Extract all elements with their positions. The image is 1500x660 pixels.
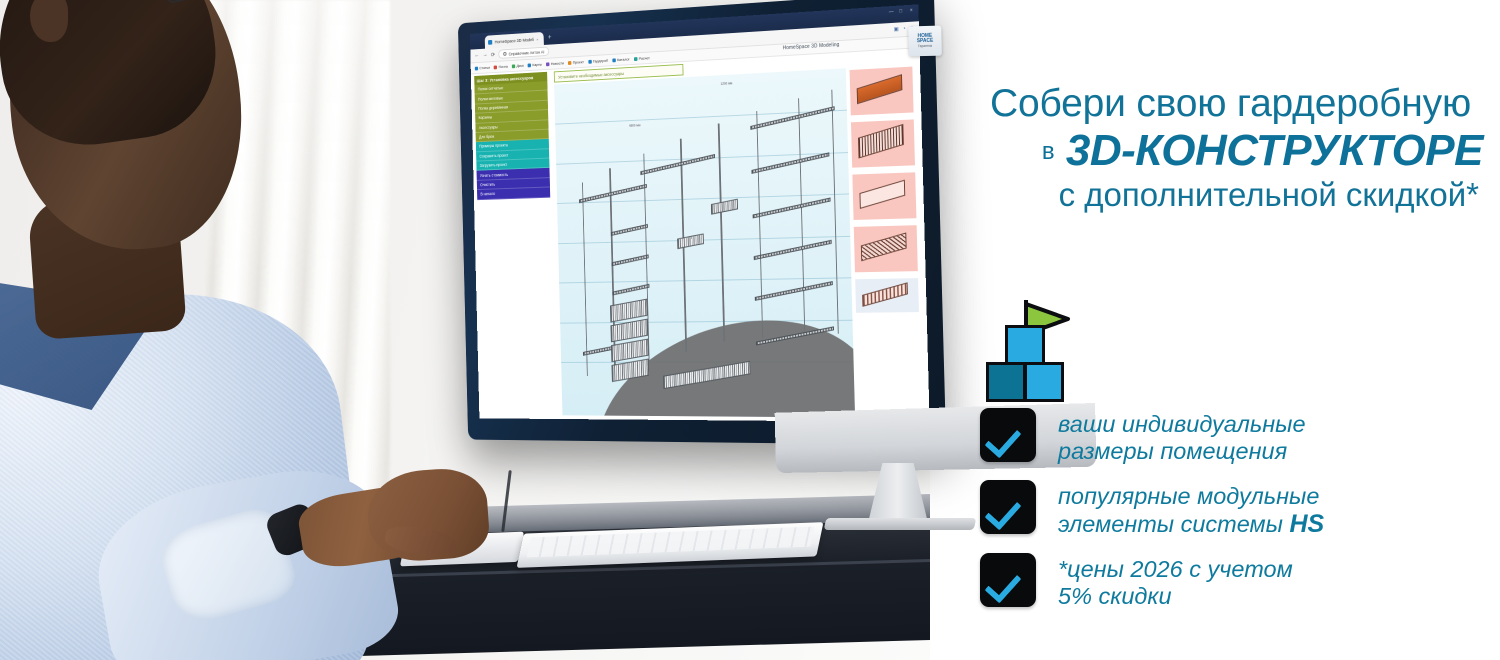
product-mesh-basket[interactable] xyxy=(851,119,915,167)
checklist-text-line2-bold: HS xyxy=(1290,510,1325,538)
lock-icon xyxy=(503,52,506,56)
monitor-stand-neck xyxy=(868,463,928,523)
bookmark-label: Статьи xyxy=(479,65,490,70)
checklist-item: популярные модульные элементы системы HS xyxy=(980,480,1480,539)
bookmark-item[interactable]: Новости xyxy=(546,61,564,67)
app-content: Шаг 3: Установка аксессуаров Полки сетча… xyxy=(471,48,930,422)
tab-title: HomeSpace 3D Modeli xyxy=(495,37,534,44)
checklist-text-line1: ваши индивидуальные xyxy=(1058,411,1306,438)
bookmark-item[interactable]: Статьи xyxy=(475,65,490,71)
tab-close-icon[interactable]: × xyxy=(536,36,538,41)
check-icon xyxy=(980,480,1036,534)
url-text: Справочник Антон AI xyxy=(509,49,545,56)
bookmark-item[interactable]: Расчет xyxy=(634,55,650,61)
url-input[interactable]: Справочник Антон AI xyxy=(498,46,549,58)
back-icon[interactable]: ← xyxy=(474,53,479,59)
imac-computer: HomeSpace 3D Modeli × + — □ × ← → ⟳ xyxy=(370,0,940,530)
extensions-icon[interactable]: ▣ xyxy=(894,27,899,33)
bookmark-icon xyxy=(475,66,478,70)
sidebar-item-home[interactable]: В начало xyxy=(477,188,550,200)
bookmark-item[interactable]: Диск xyxy=(512,63,524,68)
bookmark-item[interactable]: Проект xyxy=(568,59,584,65)
new-tab-button[interactable]: + xyxy=(548,34,552,41)
bookmark-item[interactable]: Гардероб xyxy=(588,58,608,64)
bookmark-icon xyxy=(588,59,592,63)
bookmark-icon xyxy=(612,58,616,62)
reload-icon[interactable]: ⟳ xyxy=(491,51,495,58)
tab-favicon-icon xyxy=(488,39,492,44)
check-icon xyxy=(980,553,1036,607)
checklist-text-line1: *цены 2026 с учетом xyxy=(1058,556,1293,583)
product-mesh-shelf[interactable] xyxy=(854,225,918,272)
window-controls[interactable]: — □ × xyxy=(889,9,915,16)
sidebar-section-accessories: Полки сетчатые Полки меловые Полка дерев… xyxy=(474,81,548,142)
bookmark-label: Новости xyxy=(551,61,564,66)
bookmark-icon xyxy=(568,61,571,65)
profile-icon[interactable]: ◔ xyxy=(902,26,905,32)
promo-panel: Собери свою гардеробную в 3D-КОНСТРУКТОР… xyxy=(930,0,1500,660)
bookmark-icon xyxy=(494,65,497,69)
checklist-text: ваши индивидуальные размеры помещения xyxy=(1058,408,1306,466)
app-sidebar: Шаг 3: Установка аксессуаров Полки сетча… xyxy=(474,72,550,200)
bookmark-item[interactable]: Почта xyxy=(494,64,508,69)
headline-line2-main: 3D-КОНСТРУКТОРЕ xyxy=(1066,126,1483,175)
checklist-item: ваши индивидуальные размеры помещения xyxy=(980,408,1480,466)
bookmark-icon xyxy=(512,64,515,68)
bookmark-label: Диск xyxy=(516,63,523,68)
product-trouser-rack[interactable] xyxy=(855,278,919,313)
dimension-top: 1200 мм xyxy=(720,81,734,86)
checklist-text-line2: размеры помещения xyxy=(1058,438,1306,465)
3d-viewport[interactable]: 1200 мм 4800 мм xyxy=(554,68,855,417)
maximize-icon[interactable]: □ xyxy=(899,9,904,14)
bookmark-label: Расчет xyxy=(639,55,650,60)
headline-line1: Собери свою гардеробную xyxy=(940,84,1495,125)
bookmark-label: Карты xyxy=(532,62,542,67)
headline: Собери свою гардеробную в 3D-КОНСТРУКТОР… xyxy=(940,84,1495,214)
checklist-text-line2-main: элементы системы xyxy=(1058,511,1290,537)
product-rail xyxy=(850,66,923,319)
checklist-text-line2: элементы системы HS xyxy=(1058,510,1324,539)
forward-icon[interactable]: → xyxy=(483,52,488,58)
dimension-wall: 4800 мм xyxy=(628,123,641,127)
bookmark-label: Почта xyxy=(499,64,508,69)
bookmark-item[interactable]: Каталог xyxy=(612,57,629,63)
bookmark-label: Каталог xyxy=(617,57,630,62)
sidebar-section-project: Примеры проекта Сохранить проект Загрузи… xyxy=(476,139,550,171)
checklist-text: популярные модульные элементы системы HS xyxy=(1058,480,1324,539)
monitor-screen: HomeSpace 3D Modeli × + — □ × ← → ⟳ xyxy=(470,4,930,422)
bookmark-item[interactable]: Карты xyxy=(528,62,542,67)
bookmark-label: Проект xyxy=(573,59,584,64)
minimize-icon[interactable]: — xyxy=(889,10,894,15)
checklist-text-line2: 5% скидки xyxy=(1058,583,1293,610)
logo-block-bottom-left xyxy=(986,362,1026,402)
sidebar-section-actions: Узнать стоимость Очистить В начало xyxy=(477,168,551,200)
bookmark-icon xyxy=(634,57,638,61)
checklist-text: *цены 2026 с учетом 5% скидки xyxy=(1058,553,1293,611)
headline-line3: с дополнительной скидкой* xyxy=(940,177,1495,214)
headline-line2-prefix: в xyxy=(1042,138,1054,165)
bookmark-icon xyxy=(546,62,549,66)
close-window-icon[interactable]: × xyxy=(910,9,915,14)
feature-checklist: ваши индивидуальные размеры помещения по… xyxy=(980,408,1480,624)
person-at-desk xyxy=(0,0,400,660)
headline-line2: в 3D-КОНСТРУКТОРЕ xyxy=(940,125,1495,177)
bookmark-icon xyxy=(528,63,531,67)
logo-block-bottom-right xyxy=(1024,362,1064,402)
checklist-item: *цены 2026 с учетом 5% скидки xyxy=(980,553,1480,611)
bookmark-label: Гардероб xyxy=(593,58,608,64)
product-shelf-wood[interactable] xyxy=(850,67,914,116)
blocks-flag-logo xyxy=(980,302,1072,402)
product-glass-tray[interactable] xyxy=(852,172,916,220)
logo-block-top xyxy=(1005,325,1045,365)
checklist-text-line1: популярные модульные xyxy=(1058,483,1324,510)
check-icon xyxy=(980,408,1036,462)
